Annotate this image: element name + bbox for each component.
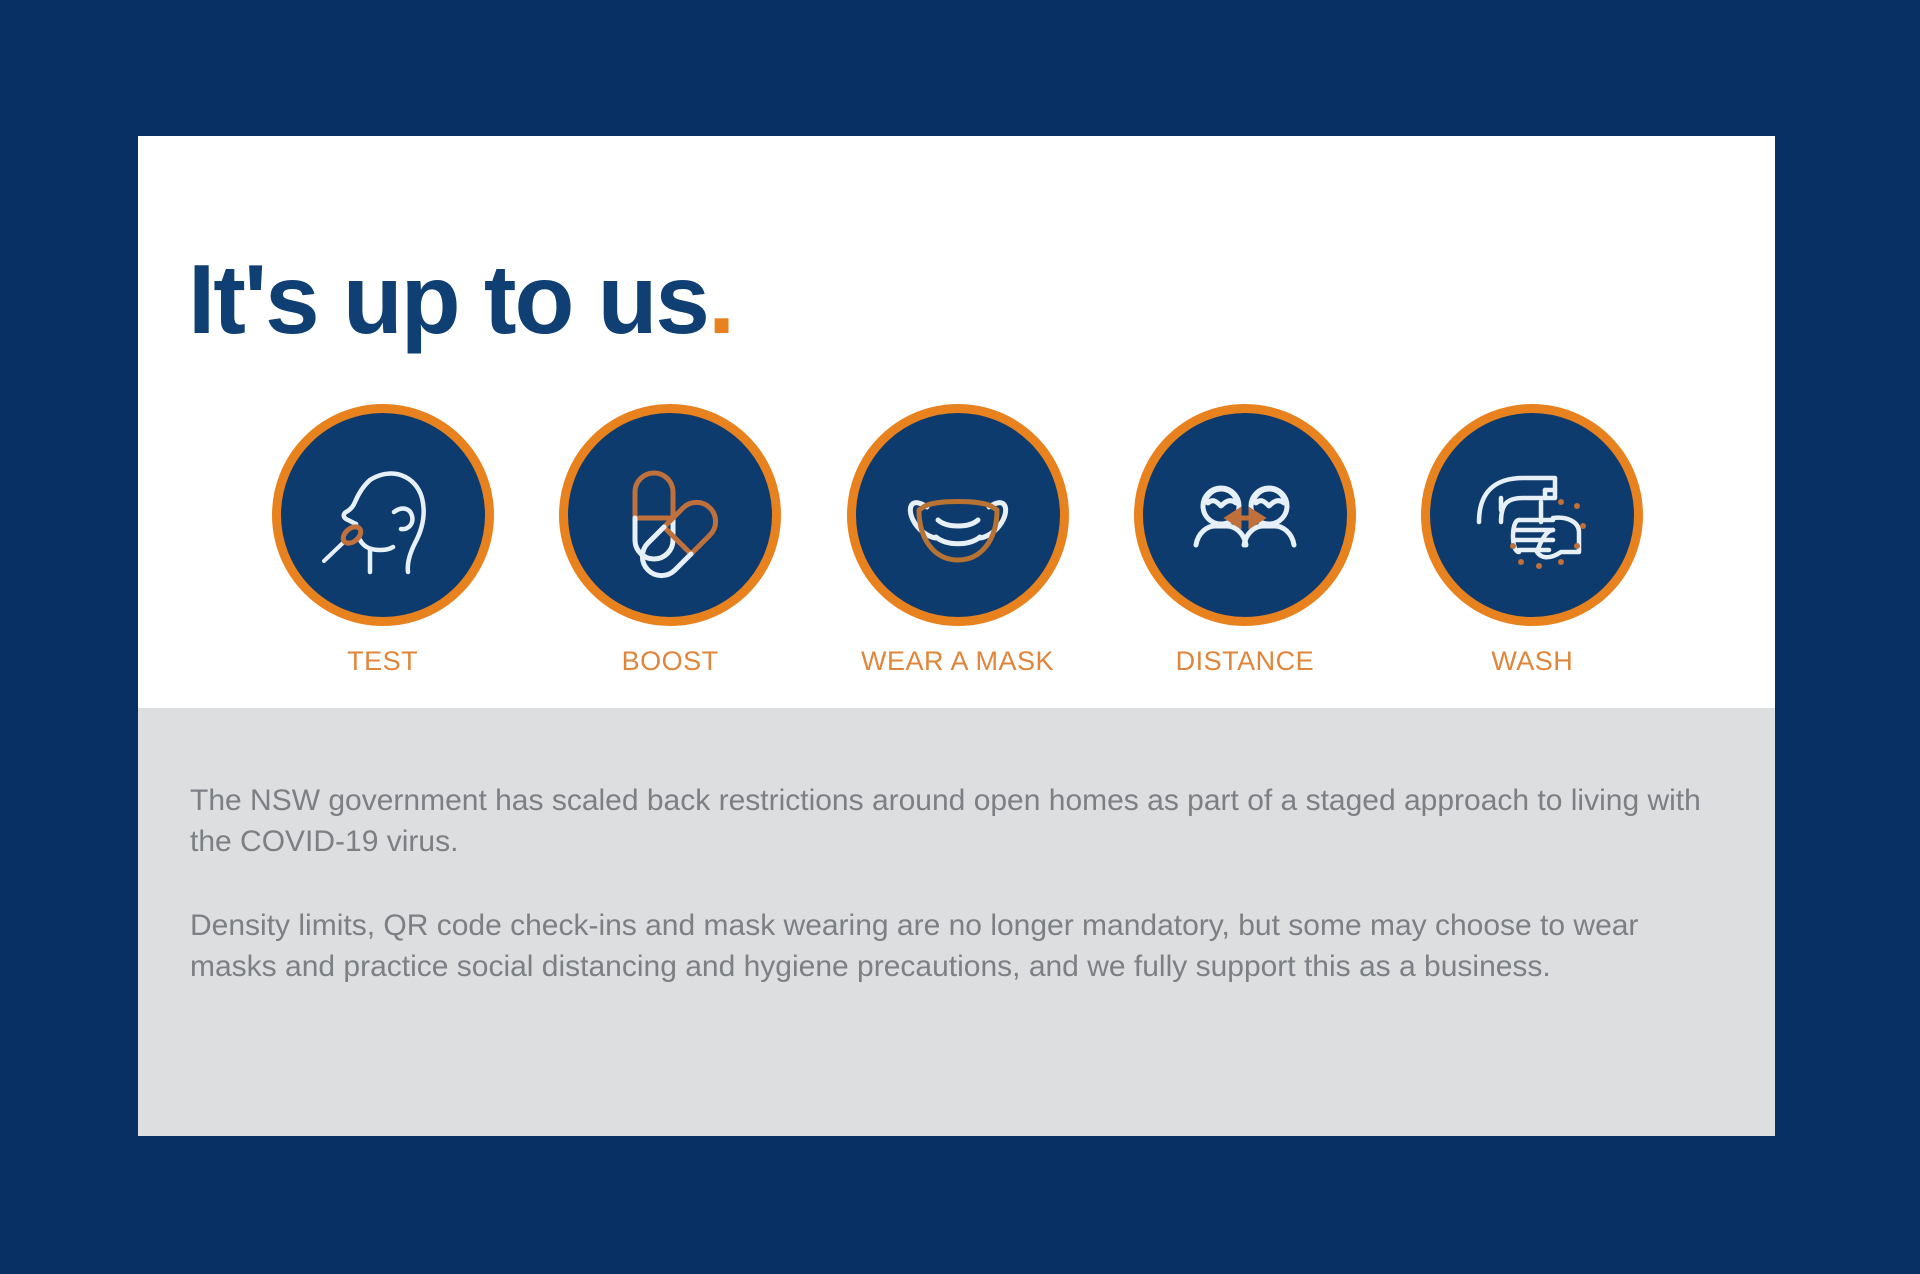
card-grey-section: The NSW government has scaled back restr…	[138, 708, 1775, 1136]
poster-canvas: It's up to us.	[0, 0, 1920, 1274]
face-mask-icon	[847, 404, 1069, 626]
page-title: It's up to us.	[188, 250, 733, 348]
headline-period: .	[708, 244, 733, 354]
measure-item-wear-a-mask[interactable]: WEAR A MASK	[843, 404, 1072, 677]
measure-item-test[interactable]: TEST	[268, 404, 497, 677]
measure-label-wash: WASH	[1491, 646, 1573, 677]
body-paragraph-2: Density limits, QR code check-ins and ma…	[190, 905, 1723, 988]
measure-label-distance: DISTANCE	[1176, 646, 1315, 677]
card-white-section: It's up to us.	[138, 136, 1775, 708]
measures-icon-row: TEST BOOST	[138, 404, 1775, 677]
measure-item-distance[interactable]: DISTANCE	[1130, 404, 1359, 677]
measure-label-boost: BOOST	[622, 646, 719, 677]
measure-item-wash[interactable]: WASH	[1418, 404, 1647, 677]
measure-label-test: TEST	[347, 646, 418, 677]
measure-item-boost[interactable]: BOOST	[555, 404, 784, 677]
headline-text: It's up to us	[188, 244, 708, 354]
measure-label-wear-a-mask: WEAR A MASK	[861, 646, 1054, 677]
content-card: It's up to us.	[138, 136, 1775, 1136]
hand-wash-tap-icon	[1421, 404, 1643, 626]
body-paragraph-1: The NSW government has scaled back restr…	[190, 780, 1723, 863]
social-distance-icon	[1134, 404, 1356, 626]
vaccine-capsules-icon	[559, 404, 781, 626]
nasal-swab-test-icon	[272, 404, 494, 626]
